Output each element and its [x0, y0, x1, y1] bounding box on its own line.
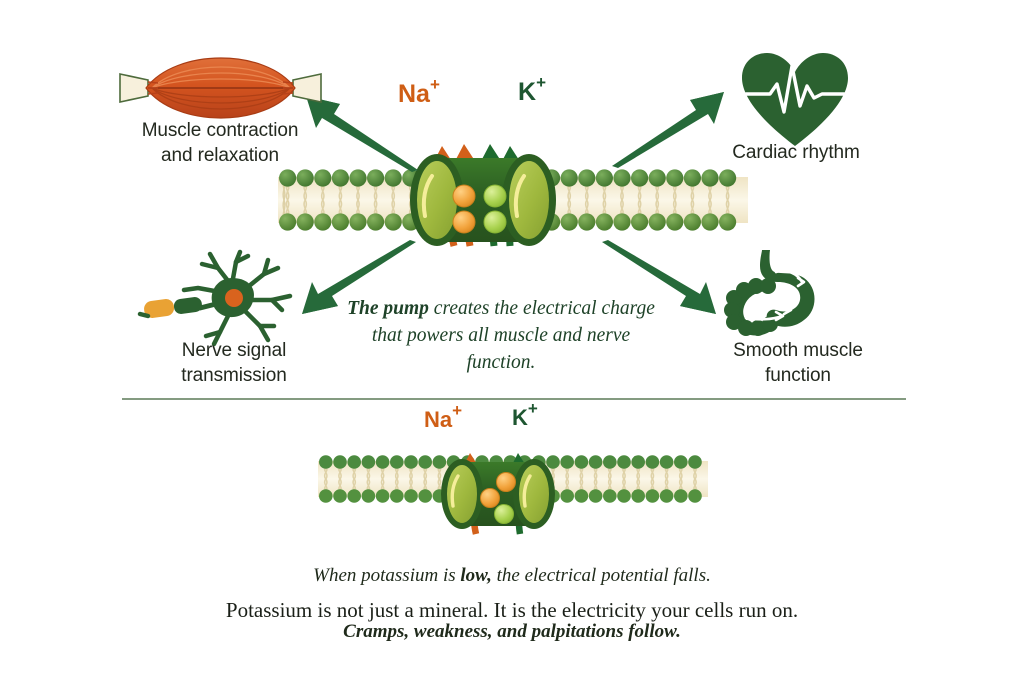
tagline: Potassium is not just a mineral. It is t…: [142, 596, 882, 624]
muscle-fiber-icon: [118, 52, 323, 124]
sodium-potassium-pump-top: [398, 96, 568, 256]
bottom-caption-line1-bold: low,: [460, 565, 492, 586]
potassium-label-top: K+: [518, 80, 546, 105]
smooth-muscle-node-label: Smooth muscle function: [692, 338, 904, 388]
center-caption: The pump creates the electrical charge t…: [332, 268, 670, 376]
bottom-caption-line1-rest: the electrical potential falls.: [492, 565, 711, 586]
bottom-caption: When potassium is low, the electrical po…: [242, 534, 782, 646]
bottom-caption-line2: Cramps, weakness, and palpitations follo…: [343, 621, 681, 642]
heart-ecg-icon: [740, 50, 850, 150]
sodium-potassium-pump-bottom: [428, 426, 568, 538]
center-caption-lead: The pump: [347, 298, 429, 319]
bottom-caption-line1-lead: When potassium is: [313, 565, 460, 586]
sodium-label-bottom: Na+: [424, 407, 462, 432]
neuron-icon: [140, 248, 320, 348]
cardiac-node-label: Cardiac rhythm: [700, 140, 892, 165]
infographic-canvas: Na+ K+: [0, 0, 1024, 683]
muscle-node-label: Muscle contraction and relaxation: [110, 118, 330, 168]
section-divider: [122, 398, 906, 400]
stomach-intestine-icon: [718, 248, 830, 340]
potassium-label-bottom: K+: [512, 405, 538, 430]
nerve-node-label: Nerve signal transmission: [128, 338, 340, 388]
